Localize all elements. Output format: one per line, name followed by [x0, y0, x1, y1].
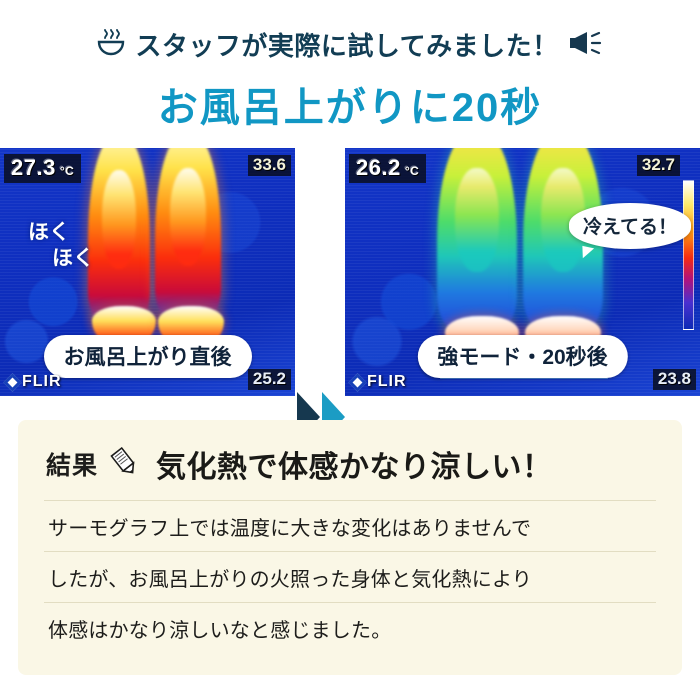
thermal-color-scale [683, 180, 694, 330]
speech-bubble-cooled: 冷えてる！ [569, 203, 691, 249]
temperature-unit: °C [405, 164, 419, 178]
flir-diamond-icon [348, 373, 366, 391]
result-panel: 結果 気化熱で体感かなり涼しい！ サーモグラフ上では温度に大きな変化はありません… [18, 420, 682, 675]
flir-diamond-icon [3, 373, 21, 391]
thermal-image-before: 27.3 °C 33.6 25.2 ほく ほく お風呂上がり直後 FLIR [0, 148, 295, 396]
result-label: 結果 [46, 446, 98, 482]
caption-after: 強モード・20秒後 [417, 335, 627, 378]
poster-root: スタッフが実際に試してみました！ お風呂上がりに20秒 27.3 °C [0, 0, 700, 700]
annotation-line-2: ほく [52, 246, 94, 272]
leg-right-heat [155, 148, 221, 322]
thermal-image-after: 26.2 °C 32.7 23.8 冷えてる！ 強モード・20秒後 FLIR [345, 148, 700, 396]
megaphone-icon [568, 30, 604, 60]
header-line-1: スタッフが実際に試してみました！ [0, 26, 700, 63]
header-line-1-text: スタッフが実際に試してみました！ [135, 26, 558, 63]
result-body: サーモグラフ上では温度に大きな変化はありませんで したが、お風呂上がりの火照った… [18, 500, 682, 653]
result-line: したが、お風呂上がりの火照った身体と気化熱により [44, 551, 656, 602]
temperature-center-value: 27.3 [11, 155, 56, 181]
leg-left-heat [88, 148, 150, 326]
annotation-line-1: ほく [28, 221, 70, 244]
result-headline: 気化熱で体感かなり涼しい！ [150, 442, 559, 486]
result-line: 体感はかなり涼しいなと感じました。 [44, 602, 656, 653]
thermal-annotation-hokuhoku: ほく ほく [28, 220, 94, 273]
onsen-icon [96, 29, 126, 61]
pencil-icon [108, 447, 142, 482]
caption-before: お風呂上がり直後 [44, 335, 252, 378]
leg-left-cooled [437, 148, 517, 332]
temperature-min-readout: 25.2 [248, 369, 291, 390]
temperature-center-readout: 27.3 °C [4, 154, 81, 183]
temperature-center-readout: 26.2 °C [349, 154, 426, 183]
flir-wordmark: FLIR [367, 373, 407, 391]
header: スタッフが実際に試してみました！ お風呂上がりに20秒 [0, 0, 700, 133]
flir-logo-right: FLIR [351, 373, 407, 391]
thermal-comparison-row: 27.3 °C 33.6 25.2 ほく ほく お風呂上がり直後 FLIR [0, 148, 700, 396]
temperature-max-readout: 33.6 [248, 155, 291, 176]
header-line-2: お風呂上がりに20秒 [0, 75, 700, 133]
temperature-max-readout: 32.7 [637, 155, 680, 176]
temperature-center-value: 26.2 [356, 155, 401, 181]
result-line: サーモグラフ上では温度に大きな変化はありませんで [44, 500, 656, 551]
temperature-unit: °C [60, 164, 74, 178]
flir-wordmark: FLIR [22, 373, 62, 391]
temperature-min-readout: 23.8 [653, 369, 696, 390]
result-header: 結果 気化熱で体感かなり涼しい！ [18, 420, 682, 486]
flir-logo-left: FLIR [6, 373, 62, 391]
